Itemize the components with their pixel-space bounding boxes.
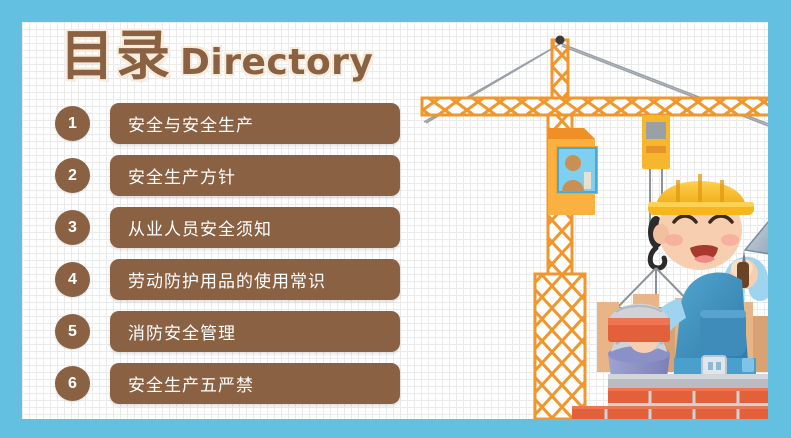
title-chinese: 目录 [60, 29, 172, 83]
list-item[interactable]: 4 劳动防护用品的使用常识 [55, 259, 445, 311]
table-of-contents: 1 安全与安全生产 2 安全生产方针 3 从业人员安全须知 4 [55, 103, 445, 415]
mortar-course-icon [608, 374, 768, 388]
construction-worker-icon [608, 174, 768, 376]
crane-operator-cab-icon [548, 128, 598, 215]
construction-illustration [412, 22, 768, 419]
item-label: 安全与安全生产 [128, 111, 254, 136]
page-title: 目录 Directory [60, 29, 373, 83]
item-bar[interactable]: 消防安全管理 [110, 311, 400, 352]
item-number-badge: 1 [55, 106, 90, 141]
item-number-badge: 6 [55, 366, 90, 401]
item-label: 消防安全管理 [128, 319, 236, 344]
item-number-badge: 5 [55, 314, 90, 349]
slide-root: 目录 Directory 1 安全与安全生产 2 安全生产方针 3 从业人员安全… [0, 0, 791, 438]
item-bar[interactable]: 安全生产方针 [110, 155, 400, 196]
list-item[interactable]: 2 安全生产方针 [55, 155, 445, 207]
item-bar[interactable]: 劳动防护用品的使用常识 [110, 259, 400, 300]
item-bar[interactable]: 安全与安全生产 [110, 103, 400, 144]
item-number-badge: 3 [55, 210, 90, 245]
list-item[interactable]: 1 安全与安全生产 [55, 103, 445, 155]
item-number-badge: 4 [55, 262, 90, 297]
item-bar[interactable]: 从业人员安全须知 [110, 207, 400, 248]
list-item[interactable]: 3 从业人员安全须知 [55, 207, 445, 259]
item-number-badge: 2 [55, 158, 90, 193]
hard-hat-icon [648, 174, 754, 215]
grid-paper-canvas: 目录 Directory 1 安全与安全生产 2 安全生产方针 3 从业人员安全… [22, 22, 768, 419]
item-label: 从业人员安全须知 [128, 215, 272, 240]
list-item[interactable]: 6 安全生产五严禁 [55, 363, 445, 415]
list-item[interactable]: 5 消防安全管理 [55, 311, 445, 363]
item-label: 劳动防护用品的使用常识 [128, 267, 326, 292]
title-english: Directory [180, 45, 373, 81]
item-label: 安全生产五严禁 [128, 371, 254, 396]
item-label: 安全生产方针 [128, 163, 236, 188]
item-bar[interactable]: 安全生产五严禁 [110, 363, 400, 404]
brick-wall-icon [572, 388, 768, 419]
